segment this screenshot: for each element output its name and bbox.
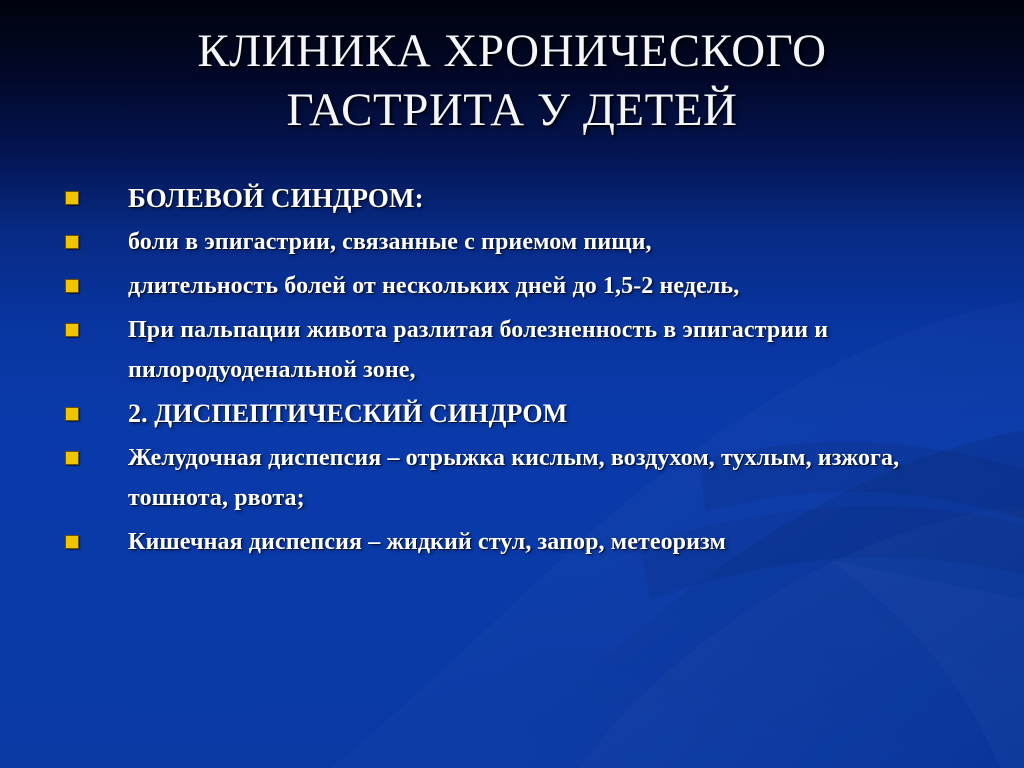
square-bullet-icon xyxy=(65,279,79,293)
slide-title-line-1: КЛИНИКА ХРОНИЧЕСКОГО xyxy=(40,22,984,81)
bullet-marker-cell xyxy=(52,310,128,337)
list-item-text: При пальпации живота разлитая болезненно… xyxy=(128,310,952,390)
list-item-text: БОЛЕВОЙ СИНДРОМ: xyxy=(128,178,952,218)
list-item: длительность болей от нескольких дней до… xyxy=(52,266,952,306)
list-item: БОЛЕВОЙ СИНДРОМ: xyxy=(52,178,952,218)
square-bullet-icon xyxy=(65,535,79,549)
list-item-text: Желудочная диспепсия – отрыжка кислым, в… xyxy=(128,438,952,518)
bullet-marker-cell xyxy=(52,438,128,465)
bullet-marker-cell xyxy=(52,394,128,421)
square-bullet-icon xyxy=(65,191,79,205)
bullet-marker-cell xyxy=(52,178,128,205)
presentation-slide: КЛИНИКА ХРОНИЧЕСКОГО ГАСТРИТА У ДЕТЕЙ БО… xyxy=(0,0,1024,768)
list-item: Желудочная диспепсия – отрыжка кислым, в… xyxy=(52,438,952,518)
slide-body: БОЛЕВОЙ СИНДРОМ: боли в эпигастрии, связ… xyxy=(52,178,952,566)
list-item: 2. ДИСПЕПТИЧЕСКИЙ СИНДРОМ xyxy=(52,394,952,434)
bullet-marker-cell xyxy=(52,522,128,549)
list-item: Кишечная диспепсия – жидкий стул, запор,… xyxy=(52,522,952,562)
list-item: При пальпации живота разлитая болезненно… xyxy=(52,310,952,390)
slide-title: КЛИНИКА ХРОНИЧЕСКОГО ГАСТРИТА У ДЕТЕЙ xyxy=(0,22,1024,140)
bullet-marker-cell xyxy=(52,222,128,249)
list-item-text: длительность болей от нескольких дней до… xyxy=(128,266,952,306)
list-item-text: 2. ДИСПЕПТИЧЕСКИЙ СИНДРОМ xyxy=(128,394,952,434)
square-bullet-icon xyxy=(65,407,79,421)
list-item: боли в эпигастрии, связанные с приемом п… xyxy=(52,222,952,262)
square-bullet-icon xyxy=(65,451,79,465)
square-bullet-icon xyxy=(65,235,79,249)
list-item-text: боли в эпигастрии, связанные с приемом п… xyxy=(128,222,952,262)
bullet-marker-cell xyxy=(52,266,128,293)
list-item-text: Кишечная диспепсия – жидкий стул, запор,… xyxy=(128,522,952,562)
slide-title-line-2: ГАСТРИТА У ДЕТЕЙ xyxy=(40,81,984,140)
square-bullet-icon xyxy=(65,323,79,337)
